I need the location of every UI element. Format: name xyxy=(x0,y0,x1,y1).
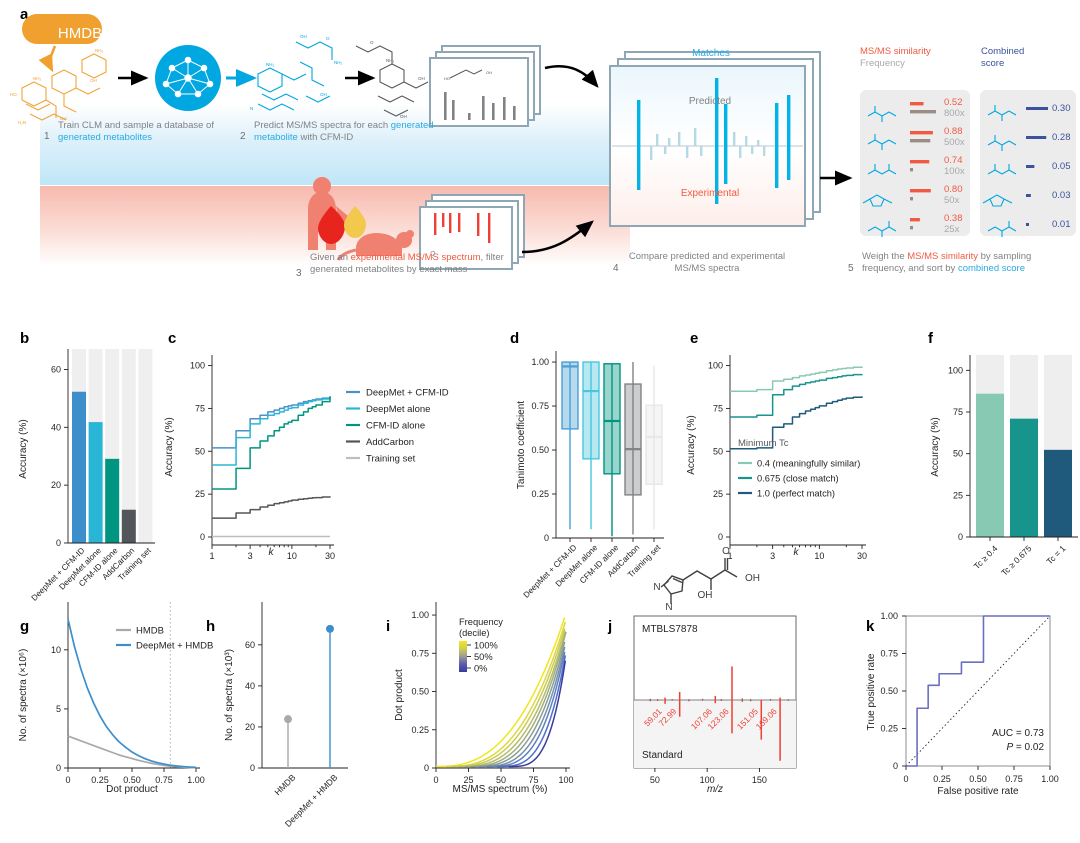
spectrum-title: MTBLS7878 xyxy=(642,624,698,635)
x-axis-label: MS/MS spectrum (%) xyxy=(452,784,547,795)
box-body xyxy=(562,362,578,429)
y-tick-label: 50 xyxy=(713,446,723,456)
svg-text:HO: HO xyxy=(10,92,17,97)
legend-title: (decile) xyxy=(459,628,489,638)
legend-title: Minimum Tc xyxy=(738,438,789,449)
step-text-fragment: Compare predicted and experimental MS/MS… xyxy=(629,251,785,274)
y-tick-label: 100 xyxy=(948,365,963,375)
frequency-colorbar xyxy=(459,641,467,672)
minor-peak xyxy=(657,700,658,701)
series-CFM-ID alone xyxy=(212,396,330,489)
legend-label: 50% xyxy=(474,652,493,662)
x-tick-label: 1.00 xyxy=(1041,774,1059,784)
minor-peak xyxy=(702,699,703,700)
legend-label: 100% xyxy=(474,640,498,650)
step-2-text: Predict MS/MS spectra for each generated… xyxy=(254,120,454,143)
auc-annotation: AUC = 0.73 xyxy=(992,728,1044,739)
peak-down xyxy=(679,700,681,717)
combined-score: 0.05 xyxy=(1052,161,1071,172)
step-text-fragment: Given an xyxy=(310,252,351,263)
step-2-number: 2 xyxy=(240,131,246,142)
similarity-score: 0.80 xyxy=(944,184,963,195)
x-tick-label: 0.75 xyxy=(155,775,173,785)
similarity-score: 0.52 xyxy=(944,97,963,108)
svg-text:H₂N: H₂N xyxy=(18,120,26,125)
svg-text:NH₂: NH₂ xyxy=(95,48,103,53)
lollipop-dot xyxy=(284,715,292,723)
peak-down xyxy=(664,700,666,704)
minor-peak xyxy=(702,700,703,701)
peak-down xyxy=(779,700,781,761)
minor-peak xyxy=(788,700,789,701)
step-text-fragment: MS/MS similarity xyxy=(907,251,978,262)
combined-header-2: score xyxy=(981,58,1004,69)
bar xyxy=(122,510,136,543)
similarity-score: 0.88 xyxy=(944,126,963,137)
y-tick-label: 1.00 xyxy=(411,610,429,620)
step-text-fragment: Predict MS/MS spectra for each xyxy=(254,120,391,131)
y-tick-label: 0.50 xyxy=(531,445,549,455)
peak-up xyxy=(779,698,781,700)
combined-score: 0.03 xyxy=(1052,190,1071,201)
y-tick-label: 25 xyxy=(713,489,723,499)
legend-label: AddCarbon xyxy=(366,437,414,448)
step-text-fragment: with CFM-ID xyxy=(298,132,353,143)
bar xyxy=(976,394,1004,537)
minor-peak xyxy=(657,699,658,700)
y-tick-label: 0.25 xyxy=(880,724,898,734)
series-0.675 (close match) xyxy=(730,374,862,417)
step-text-fragment: combined score xyxy=(958,263,1025,274)
similarity-score: 0.74 xyxy=(944,155,963,166)
x-tick-label: 0.75 xyxy=(1005,774,1023,784)
y-tick-label: 0.25 xyxy=(411,725,429,735)
y-tick-label: 20 xyxy=(51,480,61,490)
y-tick-label: 0.25 xyxy=(531,489,549,499)
pvalue-annotation: P = 0.02 xyxy=(1006,742,1044,753)
legend-label: HMDB xyxy=(136,625,164,636)
y-tick-label: 60 xyxy=(51,364,61,374)
svg-text:HO: HO xyxy=(444,76,450,81)
step-text-fragment: experimental MS/MS spectrum xyxy=(351,252,481,263)
y-tick-label: 40 xyxy=(245,681,255,691)
step-4-number: 4 xyxy=(613,263,619,274)
series-AddCarbon xyxy=(212,496,330,518)
step-5-text: Weigh the MS/MS similarity by sampling f… xyxy=(862,251,1076,274)
figure-row-2: 051000.250.500.751.00No. of spectra (×10… xyxy=(0,540,1080,843)
box-body xyxy=(625,384,641,495)
atom-label: N xyxy=(665,602,672,613)
y-tick-label: 0 xyxy=(893,761,898,771)
y-tick-label: 100 xyxy=(708,361,723,371)
svg-text:OH: OH xyxy=(320,92,327,97)
y-axis-label: Accuracy (%) xyxy=(686,415,697,474)
y-tick-label: 75 xyxy=(713,403,723,413)
y-tick-label: 25 xyxy=(195,489,205,499)
y-axis-label: Accuracy (%) xyxy=(164,417,175,476)
legend-label: DeepMet + CFM-ID xyxy=(366,387,449,398)
svg-text:O: O xyxy=(326,36,330,41)
legend-label: 0% xyxy=(474,663,487,673)
svg-text:OH: OH xyxy=(418,76,425,81)
y-tick-label: 50 xyxy=(953,449,963,459)
step-4-text: Compare predicted and experimental MS/MS… xyxy=(627,251,787,274)
atom-label: OH xyxy=(698,590,713,601)
minor-peak xyxy=(650,700,651,701)
peak-up xyxy=(664,698,666,700)
combined-score: 0.28 xyxy=(1052,132,1071,143)
legend-title: Frequency xyxy=(459,617,503,627)
svg-text:NH₂: NH₂ xyxy=(334,60,342,65)
x-tick-label: 0 xyxy=(903,774,908,784)
minor-peak xyxy=(688,699,689,700)
y-tick-label: 75 xyxy=(195,403,205,413)
predicted-spectra-card-stack: HO OH xyxy=(430,46,540,126)
bar xyxy=(1010,419,1038,537)
step-1-text: Train CLM and sample a database of gener… xyxy=(58,120,258,143)
sampling-frequency: 50x xyxy=(944,195,960,206)
legend-label: 0.675 (close match) xyxy=(757,473,839,483)
x-axis-label: m/z xyxy=(707,784,723,795)
similarity-header-1: MS/MS similarity xyxy=(860,46,931,57)
legend-label: DeepMet alone xyxy=(366,404,430,415)
box-body xyxy=(583,362,599,459)
svg-text:OH: OH xyxy=(486,70,492,75)
y-tick-label: 50 xyxy=(195,446,205,456)
y-tick-label: 0 xyxy=(424,763,429,773)
minor-peak xyxy=(770,699,771,700)
minor-peak xyxy=(721,700,722,701)
sampling-frequency: 500x xyxy=(944,137,965,148)
predicted-label: Predicted xyxy=(620,96,800,107)
bar xyxy=(72,392,86,543)
y-tick-label: 60 xyxy=(245,640,255,650)
minor-peak xyxy=(742,698,743,700)
y-tick-label: 0 xyxy=(250,763,255,773)
y-tick-label: 100 xyxy=(190,361,205,371)
step-3-text: Given an experimental MS/MS spectrum, fi… xyxy=(310,252,510,275)
x-tick-label: 150 xyxy=(752,775,767,785)
biosample-icon xyxy=(308,177,414,260)
step-text-fragment: Train CLM and sample a database of xyxy=(58,120,214,131)
y-axis-label: No. of spectra (×10⁶) xyxy=(18,649,29,742)
bar-track xyxy=(138,349,152,543)
step-5-number: 5 xyxy=(848,263,854,274)
y-axis-label: True positive rate xyxy=(866,653,877,730)
y-tick-label: 40 xyxy=(51,422,61,432)
minor-peak xyxy=(672,699,673,700)
similarity-header-2: Frequency xyxy=(860,58,905,69)
y-axis-label: Accuracy (%) xyxy=(930,417,941,476)
hmdb-badge-label: HMDB xyxy=(40,25,120,42)
sampling-frequency: 800x xyxy=(944,108,965,119)
minor-peak xyxy=(688,700,689,701)
step-3-number: 3 xyxy=(296,268,302,279)
y-tick-label: 20 xyxy=(245,722,255,732)
minor-peak xyxy=(788,699,789,700)
svg-text:NH₂: NH₂ xyxy=(266,62,274,67)
lollipop-dot xyxy=(326,625,334,633)
minor-peak xyxy=(672,700,673,701)
atom-label: OH xyxy=(745,573,760,584)
matches-card-stack xyxy=(610,52,820,226)
y-axis-label: Accuracy (%) xyxy=(18,419,29,478)
series-0.4 (meaningfully similar) xyxy=(730,366,862,391)
svg-text:O: O xyxy=(370,40,374,45)
svg-text:OH: OH xyxy=(300,34,307,39)
minor-peak xyxy=(770,700,771,701)
y-tick-label: 10 xyxy=(51,645,61,655)
minor-peak xyxy=(742,700,743,702)
figure-row-1: 0204060DeepMet + CFM-IDDeepMet aloneCFM-… xyxy=(0,315,1080,575)
step-1-number: 1 xyxy=(44,131,50,142)
legend-label: 0.4 (meaningfully similar) xyxy=(757,458,860,468)
peak-up xyxy=(679,692,681,700)
y-tick-label: 0.50 xyxy=(411,687,429,697)
y-tick-label: 0 xyxy=(56,763,61,773)
x-tick-label: 0.25 xyxy=(933,774,951,784)
spectrum-bottom-label: Standard xyxy=(642,750,683,761)
x-tick-label: 0 xyxy=(433,775,438,785)
experimental-label: Experimental xyxy=(620,188,800,199)
y-tick-label: 0.75 xyxy=(880,649,898,659)
y-tick-label: 0.75 xyxy=(411,648,429,658)
atom-label: O xyxy=(722,546,730,557)
y-tick-label: 0.75 xyxy=(531,401,549,411)
legend-label: Training set xyxy=(366,453,416,464)
y-tick-label: 5 xyxy=(56,704,61,714)
x-tick-label: 0 xyxy=(65,775,70,785)
combined-score: 0.30 xyxy=(1052,103,1071,114)
sampling-frequency: 100x xyxy=(944,166,965,177)
y-axis-label: Dot product xyxy=(394,669,405,721)
x-axis-label: False positive rate xyxy=(937,786,1019,797)
bar xyxy=(1044,450,1072,537)
y-tick-label: 1.00 xyxy=(531,357,549,367)
legend-label: DeepMet + HMDB xyxy=(136,640,213,651)
y-axis-label: Tanimoto coefficient xyxy=(516,401,527,489)
peak-down xyxy=(731,700,733,733)
box-body xyxy=(646,405,662,484)
peak-up xyxy=(731,666,733,700)
svg-text:N: N xyxy=(250,106,253,111)
y-tick-label: 25 xyxy=(953,490,963,500)
svg-text:OH: OH xyxy=(90,78,97,83)
sampling-frequency: 25x xyxy=(944,224,960,235)
atom-label: N xyxy=(653,582,660,593)
series-DeepMet + CFM-ID xyxy=(212,396,330,447)
minor-peak xyxy=(721,699,722,700)
combined-header-1: Combined xyxy=(981,46,1024,57)
peak-up xyxy=(715,696,717,700)
y-tick-label: 75 xyxy=(953,407,963,417)
similarity-score: 0.38 xyxy=(944,213,963,224)
peak-down xyxy=(715,700,717,703)
minor-peak xyxy=(750,699,751,700)
x-tick-label: 50 xyxy=(650,775,660,785)
box-body xyxy=(604,364,620,474)
x-tick-label: HMDB xyxy=(272,772,297,797)
svg-text:NH₂: NH₂ xyxy=(33,76,41,81)
y-tick-label: 1.00 xyxy=(880,611,898,621)
svg-text:NH₂: NH₂ xyxy=(386,58,394,63)
step-text-fragment: generated metabolites xyxy=(58,132,152,143)
minor-peak xyxy=(750,700,751,701)
step-text-fragment: Weigh the xyxy=(862,251,907,262)
x-axis-label: Dot product xyxy=(106,784,158,795)
legend-label: CFM-ID alone xyxy=(366,420,425,431)
matches-label: Matches xyxy=(621,48,801,59)
y-tick-label: 0.50 xyxy=(880,686,898,696)
combined-score: 0.01 xyxy=(1052,219,1071,230)
minor-peak xyxy=(650,699,651,700)
x-tick-label: 100 xyxy=(558,775,573,785)
x-tick-label: 1.00 xyxy=(187,775,205,785)
x-tick-label: 0.50 xyxy=(969,774,987,784)
bar xyxy=(89,422,103,543)
bar xyxy=(105,459,119,543)
svg-text:OH: OH xyxy=(400,114,407,119)
y-axis-label: No. of spectra (×10³) xyxy=(224,649,235,741)
legend-label: 1.0 (perfect match) xyxy=(757,488,835,498)
